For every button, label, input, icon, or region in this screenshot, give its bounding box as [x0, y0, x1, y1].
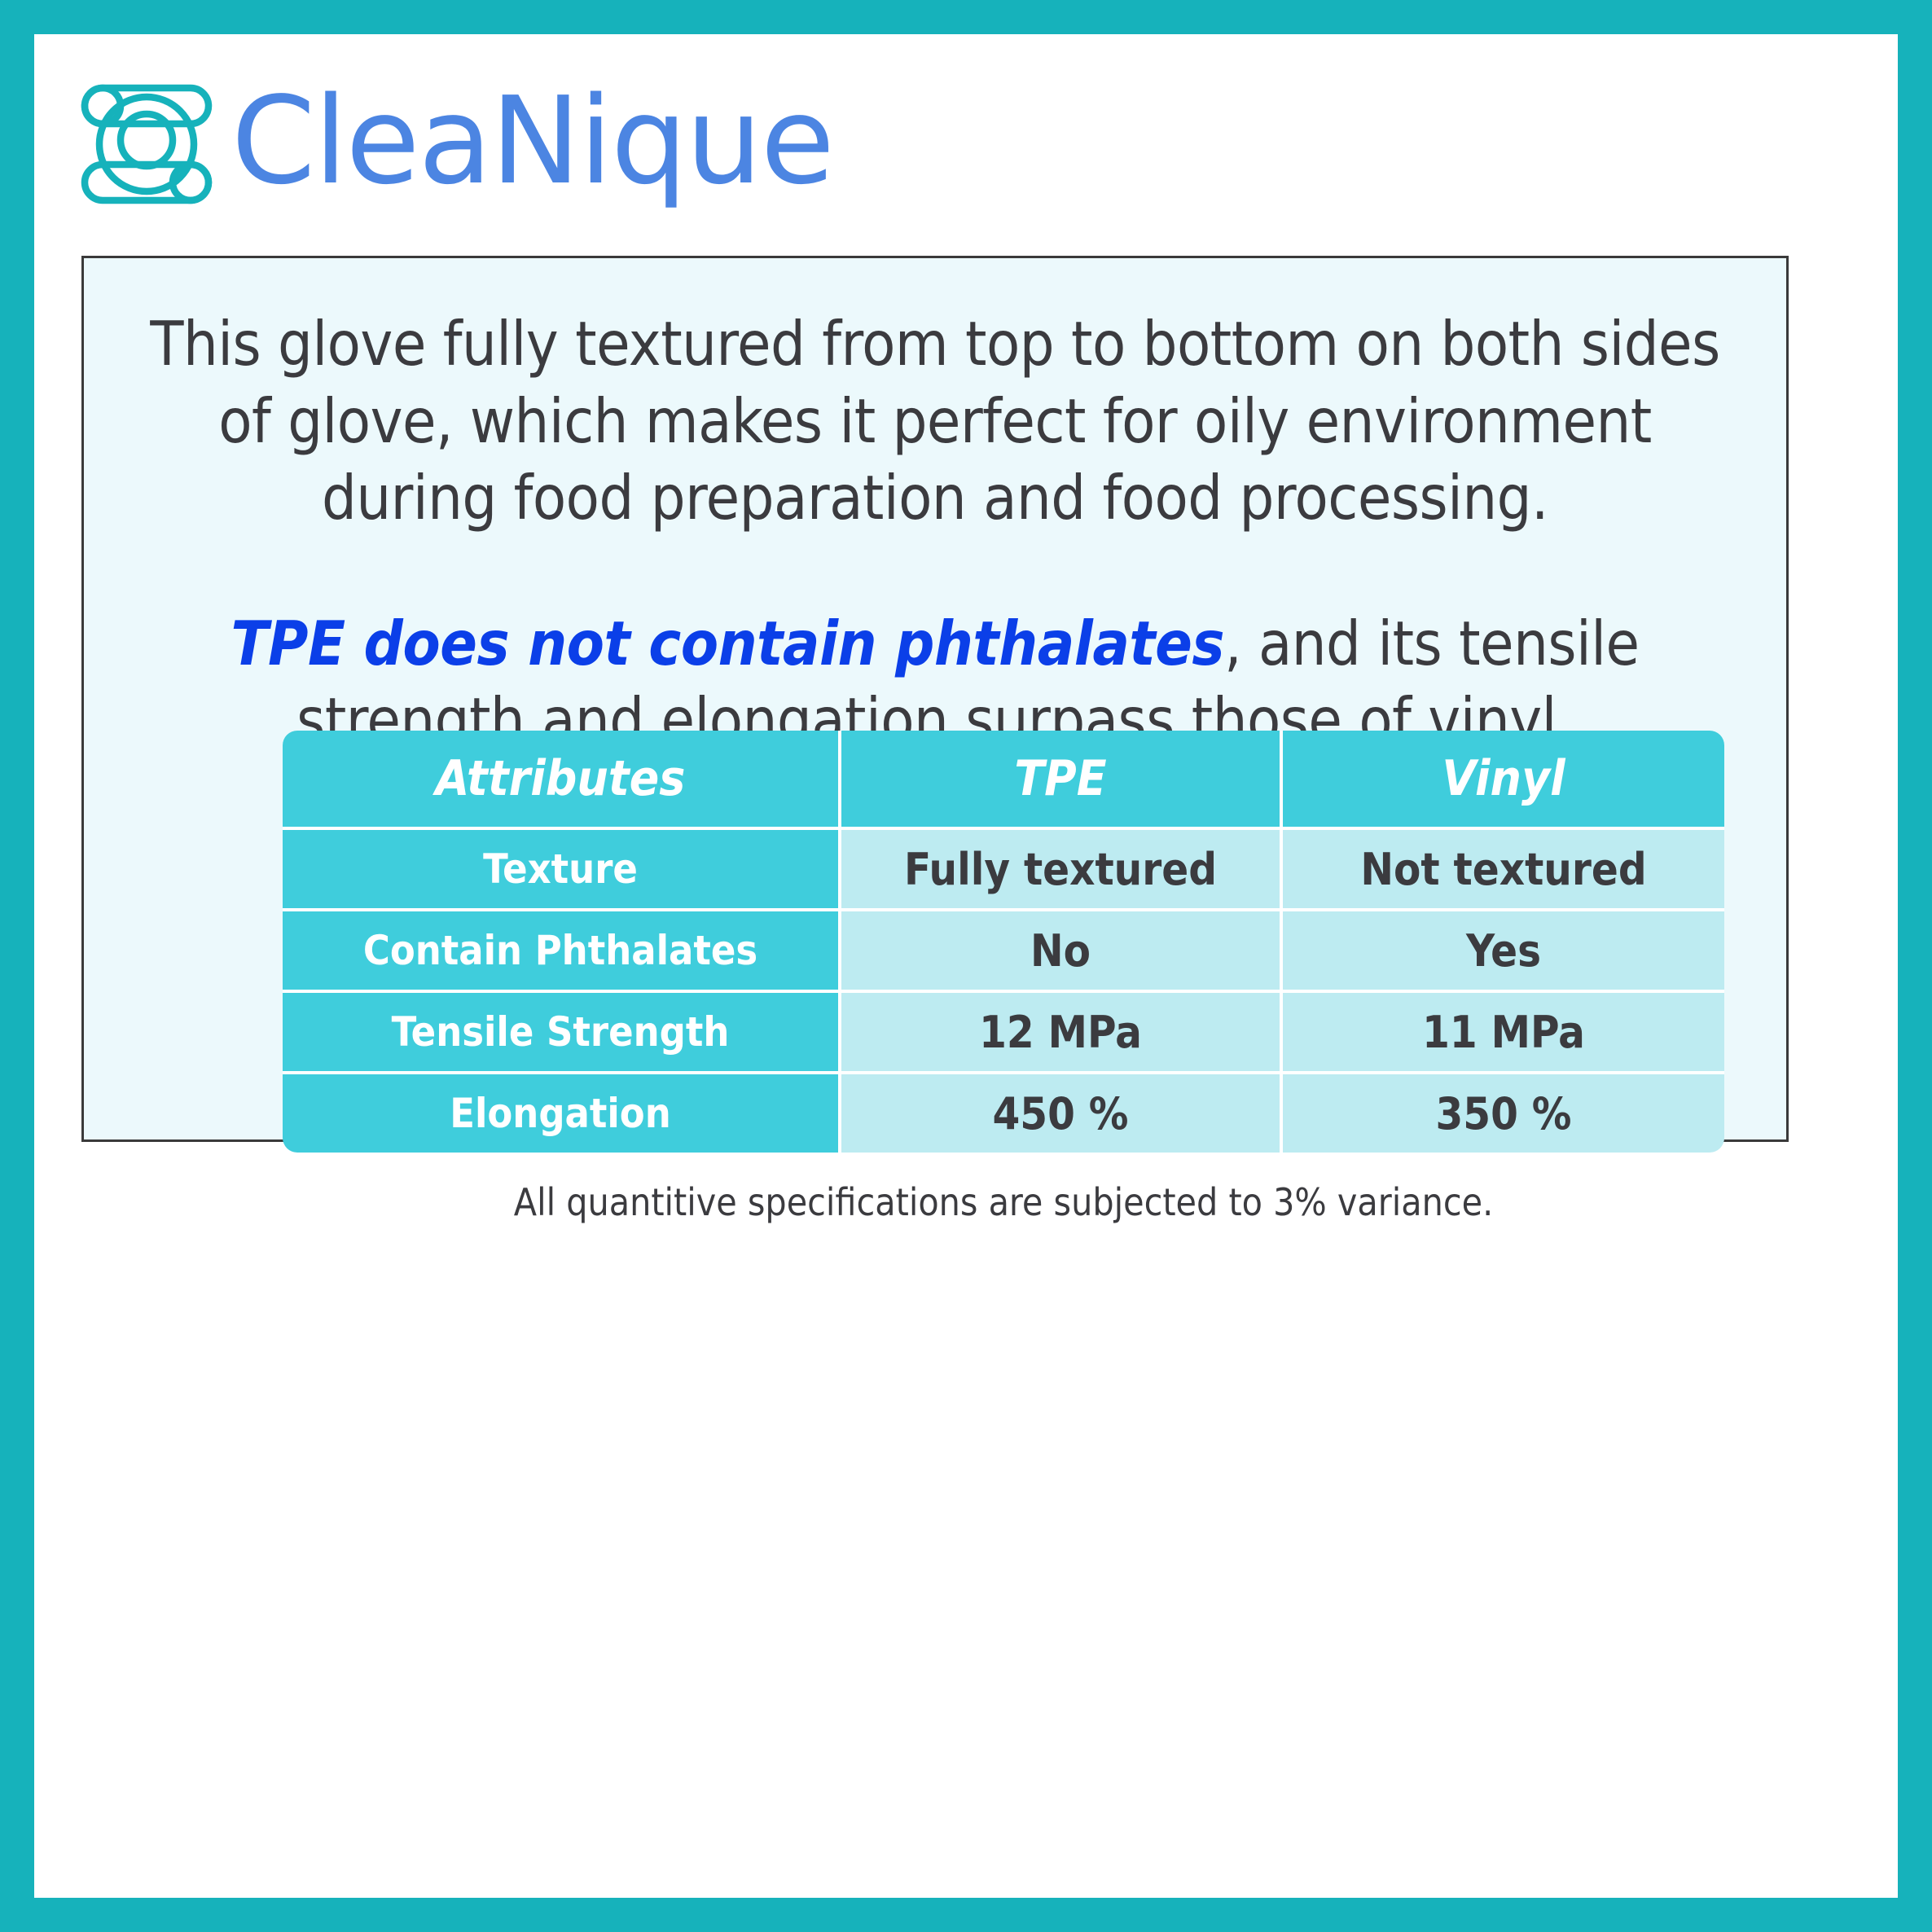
poster-frame: CleaNique This glove fully textured from… [0, 0, 1932, 1932]
tpe-vinyl-comparison-table: Attributes TPE Vinyl Texture Fully textu… [283, 731, 1724, 1153]
column-header-tpe: TPE [841, 731, 1283, 830]
cell-elongation-tpe: 450 % [841, 1074, 1283, 1153]
cell-texture-tpe: Fully textured [841, 830, 1283, 911]
cell-tensile-tpe: 12 MPa [841, 993, 1283, 1074]
cell-phthalates-vinyl: Yes [1283, 911, 1724, 993]
cleanique-loop-logo-icon [80, 83, 213, 205]
row-label-tensile-strength: Tensile Strength [283, 993, 841, 1074]
table-header-row: Attributes TPE Vinyl [283, 731, 1724, 830]
row-label-contain-phthalates: Contain Phthalates [283, 911, 841, 993]
table-row: Tensile Strength 12 MPa 11 MPa [283, 993, 1724, 1074]
description-paragraph: This glove fully textured from top to bo… [84, 258, 1786, 537]
row-label-elongation: Elongation [283, 1074, 841, 1153]
cell-tensile-vinyl: 11 MPa [1283, 993, 1724, 1074]
table-row: Elongation 450 % 350 % [283, 1074, 1724, 1153]
highlight-paragraph: TPE does not contain phthalates, and its… [84, 537, 1786, 759]
table-row: Contain Phthalates No Yes [283, 911, 1724, 993]
variance-footnote: All quantitive specifications are subjec… [283, 1153, 1724, 1224]
cell-texture-vinyl: Not textured [1283, 830, 1724, 911]
brand-wordmark: CleaNique [231, 81, 833, 208]
brand-header: CleaNique [80, 50, 833, 238]
cell-elongation-vinyl: 350 % [1283, 1074, 1724, 1153]
column-header-attributes: Attributes [283, 731, 841, 830]
poster-inner: CleaNique This glove fully textured from… [34, 34, 1898, 1898]
cell-phthalates-tpe: No [841, 911, 1283, 993]
spec-table-wrapper: Attributes TPE Vinyl Texture Fully textu… [283, 731, 1724, 1224]
phthalates-highlight-text: TPE does not contain phthalates [231, 608, 1224, 679]
content-card: This glove fully textured from top to bo… [81, 256, 1789, 1142]
table-row: Texture Fully textured Not textured [283, 830, 1724, 911]
column-header-vinyl: Vinyl [1283, 731, 1724, 830]
row-label-texture: Texture [283, 830, 841, 911]
